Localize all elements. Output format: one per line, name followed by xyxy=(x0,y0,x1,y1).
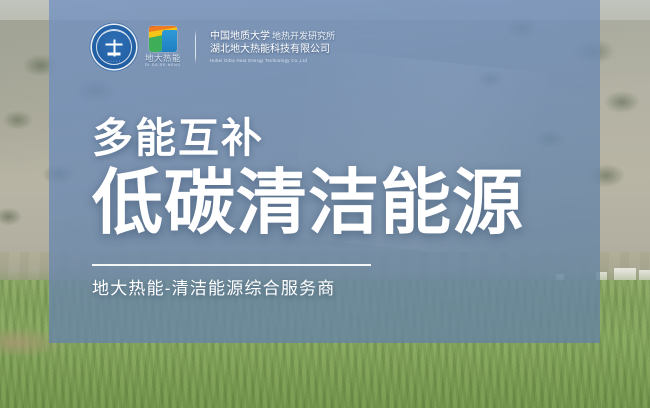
university-name: 中国地质大学 xyxy=(210,31,270,42)
university-seal-icon: • • • • • xyxy=(92,25,136,69)
institute-name: 地热开发研究所 xyxy=(272,31,335,41)
company-logo: 地大热能 DI DA RE NENG xyxy=(145,26,181,68)
company-logo-cn-text: 地大热能 xyxy=(145,54,181,63)
headline-divider-rule xyxy=(92,264,371,266)
headline-subtitle: 地大热能-清洁能源综合服务商 xyxy=(92,278,335,299)
company-logo-pinyin-text: DI DA RE NENG xyxy=(145,64,181,68)
seal-ring-text: • • • • • xyxy=(92,59,136,63)
seal-emblem xyxy=(105,38,124,57)
brand-line-company-english: Hubei DiDa Heat Energy Technology Co.,Lt… xyxy=(210,58,335,63)
promo-banner: • • • • • 地大热能 DI DA RE NENG 中国地质大学地热开发研… xyxy=(0,0,650,408)
headline-large: 低碳清洁能源 xyxy=(92,168,572,239)
brand-text-block: 中国地质大学地热开发研究所 湖北地大热能科技有限公司 Hubei DiDa He… xyxy=(210,31,335,63)
brand-line-university: 中国地质大学地热开发研究所 xyxy=(210,31,335,43)
brand-header: • • • • • 地大热能 DI DA RE NENG 中国地质大学地热开发研… xyxy=(92,21,335,73)
headline-small: 多能互补 xyxy=(92,118,572,159)
header-divider xyxy=(195,30,196,64)
brand-line-company: 湖北地大热能科技有限公司 xyxy=(210,44,335,56)
headline-block: 多能互补 低碳清洁能源 xyxy=(92,118,572,239)
rainbow-arc-logo-icon xyxy=(149,26,177,52)
